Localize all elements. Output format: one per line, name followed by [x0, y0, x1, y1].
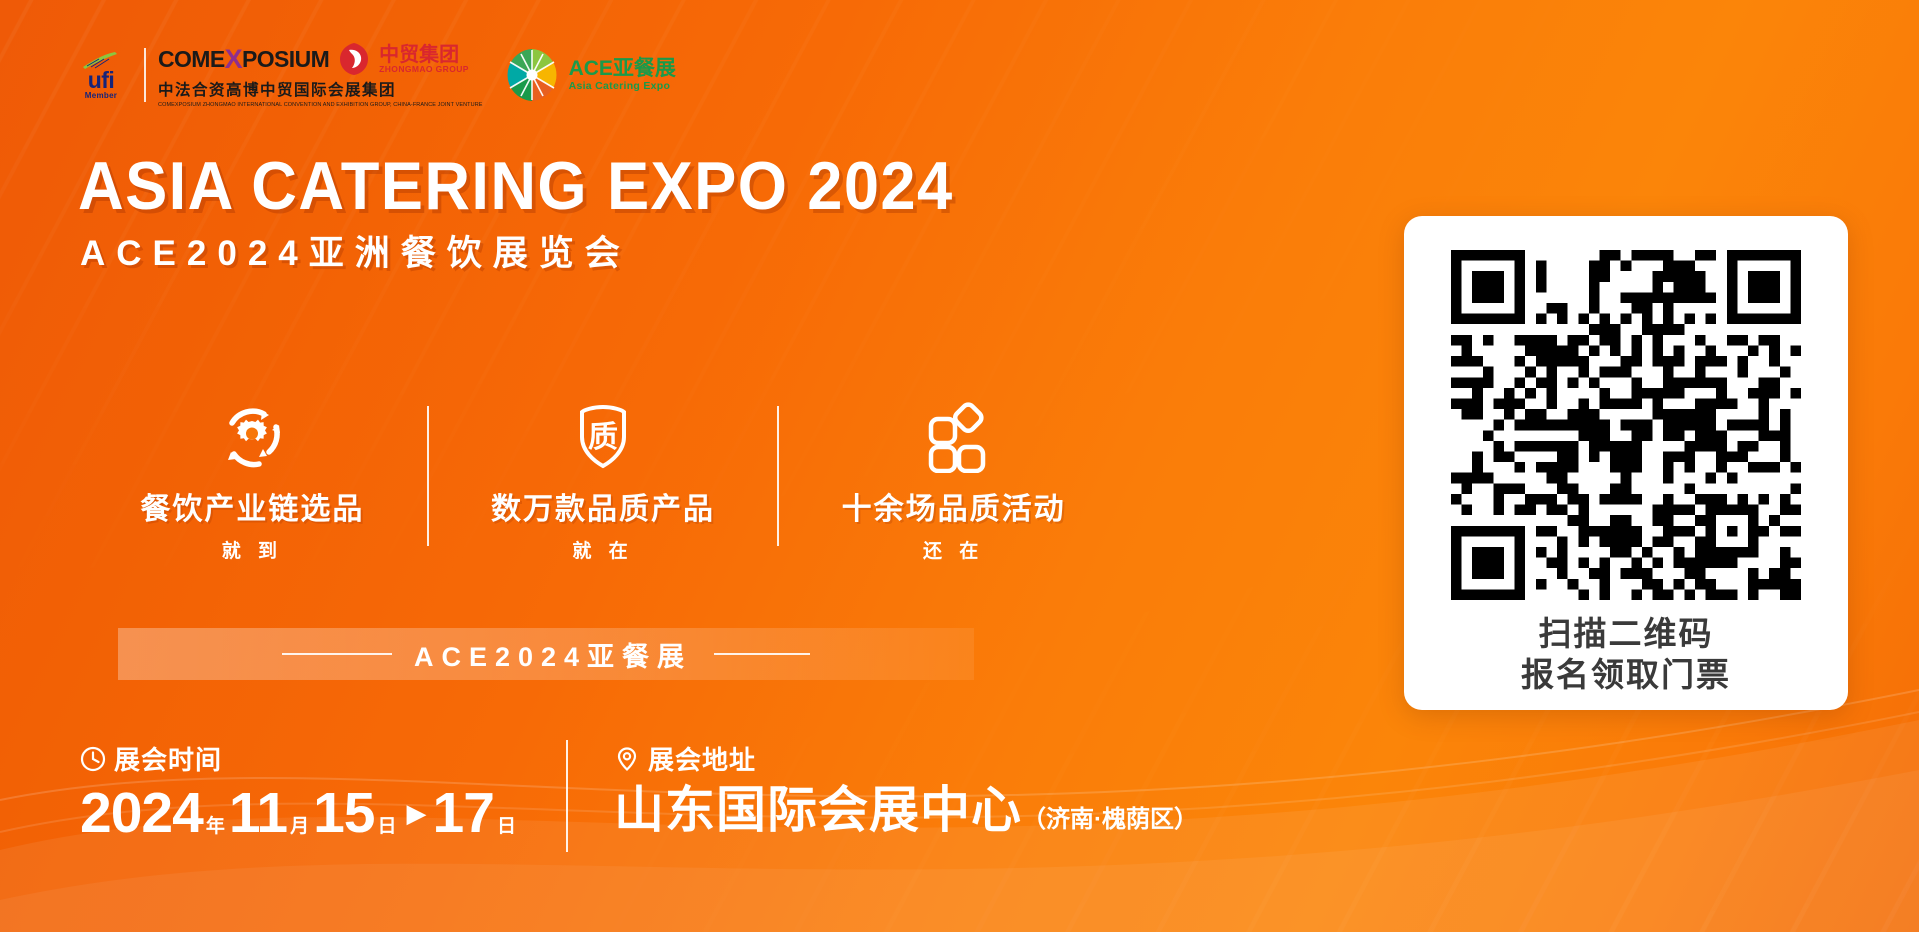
ace-cn-name: ACE亚餐展: [569, 58, 676, 80]
logo-divider-1: [144, 48, 146, 102]
feature-line1: 餐饮产业链选品: [140, 484, 364, 528]
quality-shield-icon: 质: [566, 399, 640, 473]
comexposium-x-glyph: X: [225, 44, 242, 75]
qr-code[interactable]: [1451, 250, 1801, 600]
qr-caption-line1: 扫描二维码: [1521, 614, 1731, 655]
feature-item-activities: 十余场品质活动 还 在: [779, 400, 1128, 563]
event-venue-block: 展会地址 山东国际会展中心 （济南·槐荫区）: [614, 740, 1198, 835]
ace-pinwheel-icon: [503, 46, 561, 104]
ufi-member-label: Member: [85, 91, 117, 100]
ufi-logo: ufi Member: [70, 50, 132, 101]
feature-line1: 十余场品质活动: [842, 484, 1066, 528]
page-title: ASIA CATERING EXPO 2024: [78, 152, 954, 220]
ribbon-rule-left: [282, 653, 392, 655]
activities-grid-icon: [917, 399, 991, 473]
supply-chain-gear-icon: [215, 399, 289, 473]
event-date-value: 2024 年 11 月 15 日 ▶ 17 日: [80, 785, 520, 842]
ufi-wordmark: ufi: [88, 70, 115, 92]
ace-logo: ACE亚餐展 Asia Catering Expo: [503, 46, 676, 104]
qr-caption: 扫描二维码 报名领取门票: [1521, 614, 1731, 696]
event-ribbon: ACE2024亚餐展: [118, 628, 974, 680]
feature-line2: 就 到: [222, 536, 283, 563]
date-day-end: 17: [433, 785, 494, 842]
clock-icon: [80, 746, 106, 772]
event-info: 展会时间 2024 年 11 月 15 日 ▶ 17 日 展会地址: [80, 740, 1198, 852]
date-day-unit-2: 日: [497, 811, 516, 842]
date-day-start: 15: [313, 785, 374, 842]
ribbon-rule-right: [714, 653, 810, 655]
qr-caption-line2: 报名领取门票: [1521, 655, 1731, 696]
event-date-block: 展会时间 2024 年 11 月 15 日 ▶ 17 日: [80, 740, 520, 842]
venue-district: （济南·槐荫区）: [1022, 799, 1198, 834]
comexposium-cn-line: 中法合资高博中贸国际会展集团: [158, 78, 483, 100]
feature-list: 餐饮产业链选品 就 到 质 数万款品质产品 就 在: [78, 400, 1128, 563]
zhongmao-mark-icon: [337, 42, 371, 76]
date-year: 2024: [80, 785, 203, 842]
promo-banner: ufi Member COME X POSIUM 中贸集团 ZHONGMAO G…: [0, 0, 1919, 932]
zhongmao-en-name: ZHONGMAO GROUP: [379, 65, 469, 74]
event-venue-value: 山东国际会展中心 （济南·槐荫区）: [614, 785, 1198, 835]
comexposium-logo: COME X POSIUM 中贸集团 ZHONGMAO GROUP 中法合资高博…: [158, 42, 483, 108]
date-range-arrow-icon: ▶: [407, 798, 427, 829]
ribbon-label: ACE2024亚餐展: [414, 635, 692, 674]
comexposium-word-left: COME: [158, 46, 225, 73]
event-venue-label: 展会地址: [648, 740, 756, 777]
zhongmao-cn-name: 中贸集团: [379, 45, 469, 65]
feature-line2: 就 在: [572, 536, 633, 563]
feature-item-quality: 质 数万款品质产品 就 在: [429, 400, 778, 563]
location-pin-icon: [614, 746, 640, 772]
date-month: 11: [229, 785, 287, 842]
venue-name: 山东国际会展中心: [614, 785, 1022, 835]
comexposium-en-line: COMEXPOSIUM ZHONGMAO INTERNATIONAL CONVE…: [158, 102, 483, 108]
ace-en-name: Asia Catering Expo: [569, 81, 676, 92]
comexposium-word-right: POSIUM: [242, 46, 329, 73]
comexposium-wordmark: COME X POSIUM: [158, 44, 329, 75]
date-day-unit-1: 日: [378, 811, 397, 842]
date-month-unit: 月: [290, 811, 309, 842]
info-divider: [566, 740, 568, 852]
svg-text:质: 质: [588, 420, 618, 455]
feature-item-supply-chain: 餐饮产业链选品 就 到: [78, 400, 427, 563]
feature-line1: 数万款品质产品: [491, 484, 715, 528]
event-date-label: 展会时间: [114, 740, 222, 777]
date-year-unit: 年: [206, 811, 225, 842]
page-subtitle: ACE2024亚洲餐饮展览会: [80, 236, 631, 271]
feature-line2: 还 在: [923, 536, 984, 563]
qr-registration-card[interactable]: 扫描二维码 报名领取门票: [1404, 216, 1848, 710]
logo-bar: ufi Member COME X POSIUM 中贸集团 ZHONGMAO G…: [70, 44, 676, 106]
